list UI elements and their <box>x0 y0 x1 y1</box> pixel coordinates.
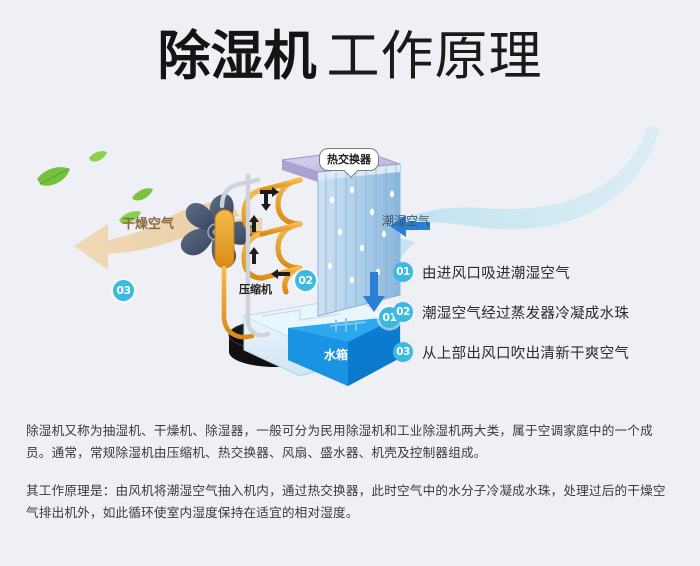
legend-badge-02: 02 <box>393 302 413 322</box>
title-secondary: 工作原理 <box>327 26 543 87</box>
page-title: 除湿机工作原理 <box>0 30 700 83</box>
callout-heat-exchanger: 热交换器 <box>319 148 379 171</box>
legend-list: 01 由进风口吸进潮湿空气 02 潮湿空气经过蒸发器冷凝成水珠 03 从上部出风… <box>393 252 693 372</box>
legend-text-02: 潮湿空气经过蒸发器冷凝成水珠 <box>422 302 629 323</box>
label-compressor: 压缩机 <box>239 281 272 297</box>
evaporator-coil <box>318 164 400 316</box>
label-water-tank: 水箱 <box>324 346 348 363</box>
paragraph-2: 其工作原理是：由风机将潮湿空气抽入机内，通过热交换器，此时空气中的水分子冷凝成水… <box>26 480 678 524</box>
legend-badge-03: 03 <box>393 342 413 362</box>
list-item: 02 潮湿空气经过蒸发器冷凝成水珠 <box>393 292 693 332</box>
label-dry-air: 干燥空气 <box>122 213 174 232</box>
title-primary: 除湿机 <box>158 26 317 87</box>
list-item: 03 从上部出风口吹出清新干爽空气 <box>393 332 693 372</box>
compressor-tank <box>215 210 234 268</box>
body-copy: 除湿机又称为抽湿机、干燥机、除湿器，一般可分为民用除湿机和工业除湿机两大类，属于… <box>26 420 678 524</box>
list-item: 01 由进风口吸进潮湿空气 <box>393 252 693 292</box>
legend-text-03: 从上部出风口吹出清新干爽空气 <box>422 342 629 363</box>
label-humid-air: 潮湿空气 <box>382 212 430 229</box>
paragraph-1: 除湿机又称为抽湿机、干燥机、除湿器，一般可分为民用除湿机和工业除湿机两大类，属于… <box>26 420 678 464</box>
legend-text-01: 由进风口吸进潮湿空气 <box>422 262 570 283</box>
badge-02-diagram: 02 <box>295 270 316 291</box>
legend-badge-01: 01 <box>393 262 413 282</box>
badge-03-diagram: 03 <box>113 280 134 301</box>
